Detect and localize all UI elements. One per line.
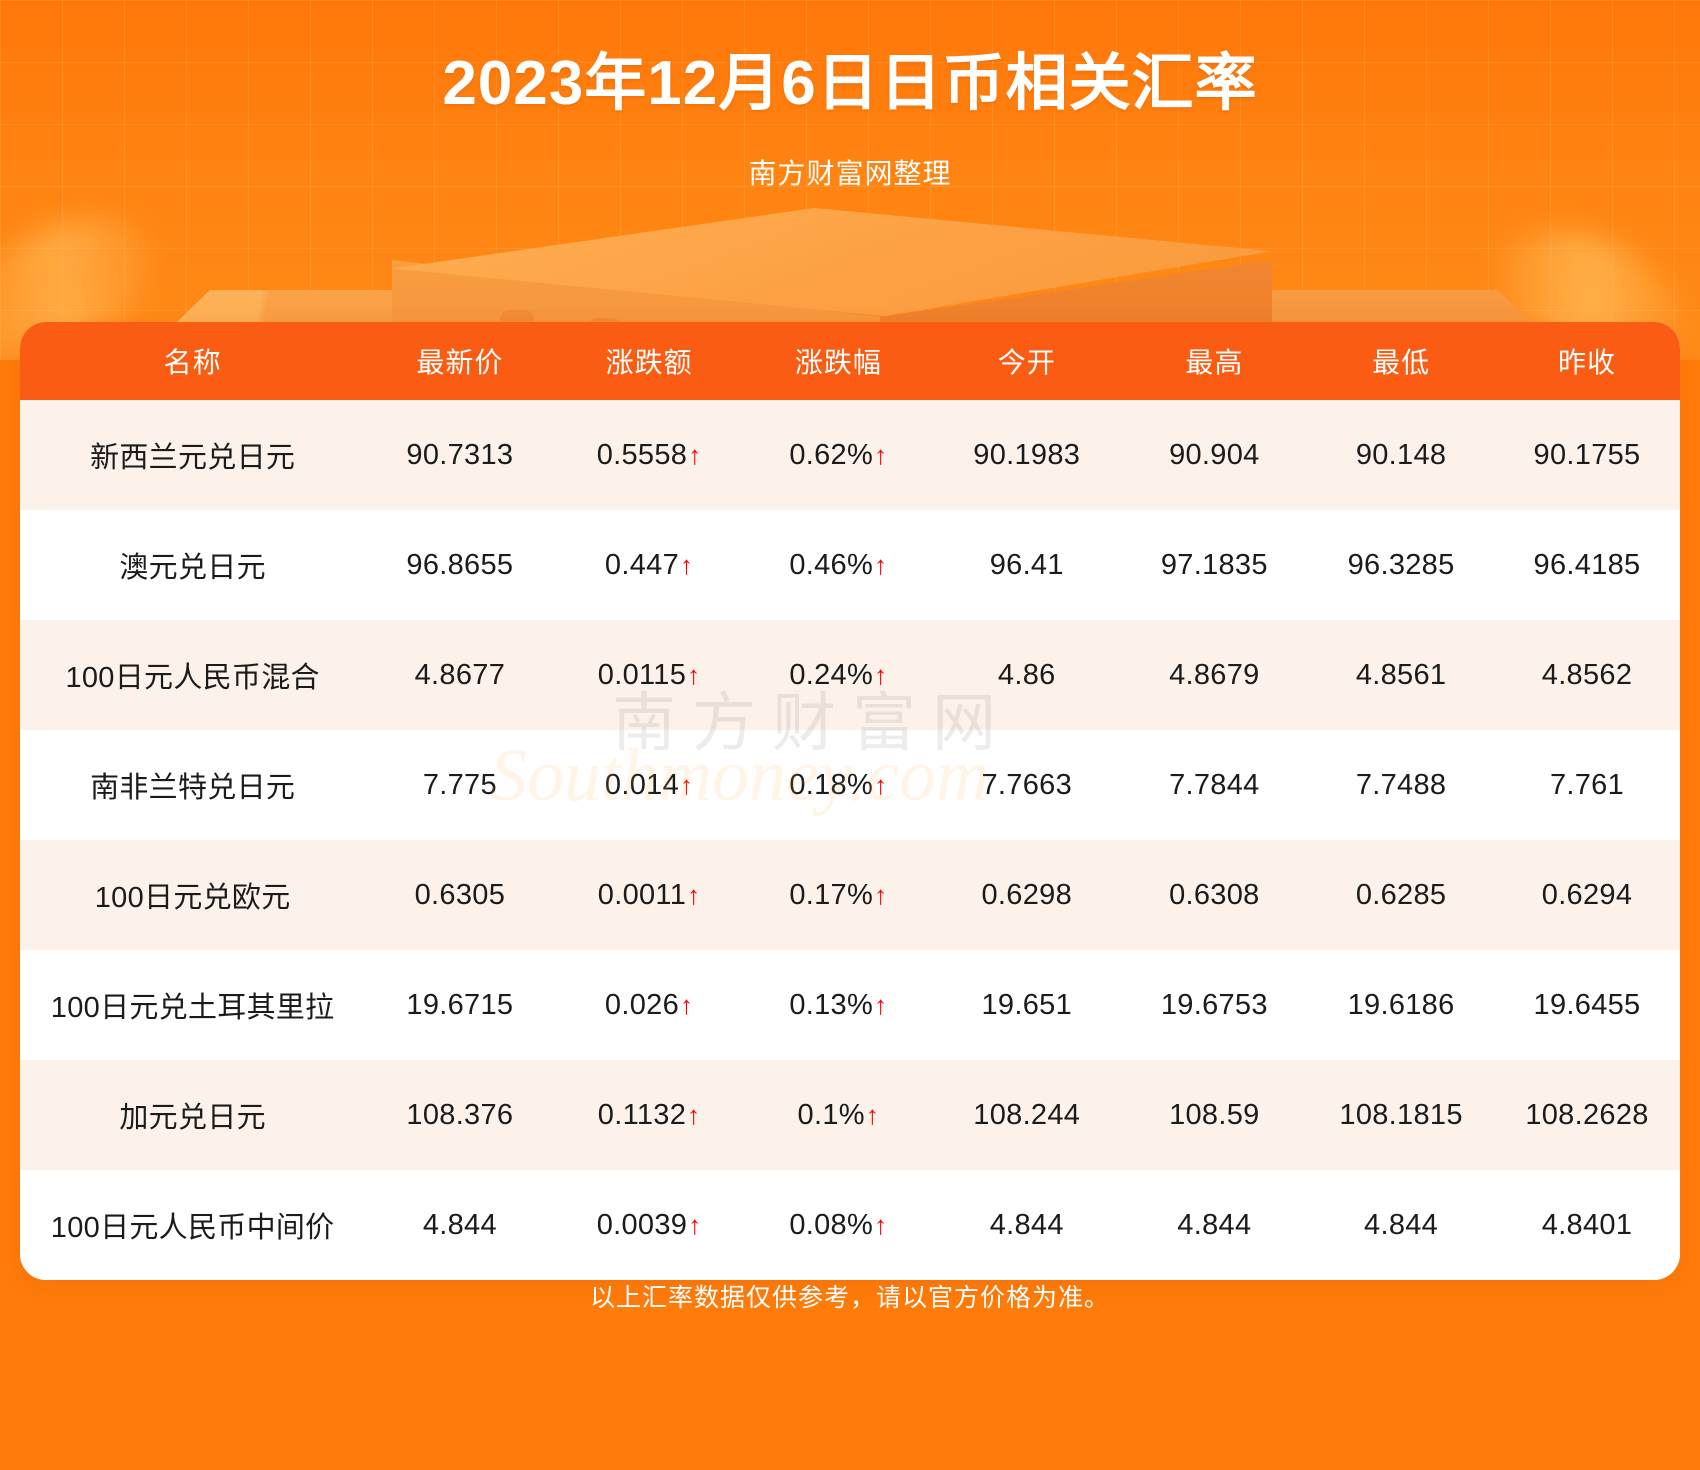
- arrow-up-icon: ↑: [873, 440, 887, 470]
- rates-card: 名称 最新价 涨跌额 涨跌幅 今开 最高 最低 昨收 新西兰元兑日元 90.73…: [20, 322, 1680, 1280]
- change-value: 0.0039: [597, 1209, 688, 1241]
- cell-last-price: 0.6305: [365, 840, 554, 950]
- cell-change-pct: 0.18%↑: [744, 730, 933, 840]
- cell-last-price: 19.6715: [365, 950, 554, 1060]
- change-value: 0.0115: [598, 659, 686, 691]
- cell-open: 4.86: [933, 620, 1121, 730]
- cell-open: 7.7663: [933, 730, 1121, 840]
- pct-value: 0.13%: [789, 989, 873, 1021]
- cell-last-price: 7.775: [365, 730, 554, 840]
- cell-change-pct: 0.24%↑: [744, 620, 933, 730]
- cell-change-pct: 0.62%↑: [744, 400, 933, 510]
- column-header-name[interactable]: 名称: [20, 322, 365, 400]
- arrow-up-icon: ↑: [873, 880, 887, 910]
- cell-prev-close: 96.4185: [1494, 510, 1680, 620]
- cell-high: 97.1835: [1121, 510, 1309, 620]
- cell-open: 0.6298: [933, 840, 1121, 950]
- cell-change: 0.447↑: [555, 510, 744, 620]
- table-row[interactable]: 100日元兑土耳其里拉 19.6715 0.026↑ 0.13%↑ 19.651…: [20, 950, 1680, 1060]
- cell-name: 澳元兑日元: [20, 510, 365, 620]
- cell-name: 南非兰特兑日元: [20, 730, 365, 840]
- cell-high: 4.844: [1121, 1170, 1309, 1280]
- cell-prev-close: 4.8401: [1494, 1170, 1680, 1280]
- cell-last-price: 90.7313: [365, 400, 554, 510]
- cell-name: 加元兑日元: [20, 1060, 365, 1170]
- table-row[interactable]: 100日元兑欧元 0.6305 0.0011↑ 0.17%↑ 0.6298 0.…: [20, 840, 1680, 950]
- change-value: 0.0011: [598, 879, 686, 911]
- arrow-up-icon: ↑: [686, 1100, 700, 1130]
- change-value: 0.1132: [598, 1099, 686, 1131]
- cell-change: 0.1132↑: [555, 1060, 744, 1170]
- arrow-up-icon: ↑: [687, 1210, 701, 1240]
- cell-low: 0.6285: [1308, 840, 1494, 950]
- arrow-up-icon: ↑: [679, 550, 693, 580]
- exchange-rate-page: 2023年12月6日日币相关汇率 南方财富网整理 名称 最新价 涨跌额 涨跌幅 …: [0, 0, 1700, 1470]
- arrow-up-icon: ↑: [687, 440, 701, 470]
- cell-change: 0.0039↑: [555, 1170, 744, 1280]
- cell-low: 19.6186: [1308, 950, 1494, 1060]
- column-header-low[interactable]: 最低: [1308, 322, 1494, 400]
- cell-last-price: 4.8677: [365, 620, 554, 730]
- arrow-up-icon: ↑: [865, 1100, 879, 1130]
- arrow-up-icon: ↑: [686, 660, 700, 690]
- cell-high: 0.6308: [1121, 840, 1309, 950]
- cell-change: 0.0115↑: [555, 620, 744, 730]
- cell-low: 96.3285: [1308, 510, 1494, 620]
- footer-disclaimer: 以上汇率数据仅供参考，请以官方价格为准。: [0, 1278, 1700, 1314]
- cell-open: 4.844: [933, 1170, 1121, 1280]
- column-header-last-price[interactable]: 最新价: [365, 322, 554, 400]
- cell-last-price: 96.8655: [365, 510, 554, 620]
- cell-change-pct: 0.17%↑: [744, 840, 933, 950]
- page-subtitle: 南方财富网整理: [0, 152, 1700, 192]
- table-row[interactable]: 100日元人民币混合 4.8677 0.0115↑ 0.24%↑ 4.86 4.…: [20, 620, 1680, 730]
- cell-last-price: 108.376: [365, 1060, 554, 1170]
- cell-high: 7.7844: [1121, 730, 1309, 840]
- cell-change: 0.014↑: [555, 730, 744, 840]
- cell-prev-close: 7.761: [1494, 730, 1680, 840]
- cell-name: 100日元兑欧元: [20, 840, 365, 950]
- arrow-up-icon: ↑: [679, 990, 693, 1020]
- cell-change: 0.026↑: [555, 950, 744, 1060]
- cell-high: 4.8679: [1121, 620, 1309, 730]
- change-value: 0.447: [605, 549, 679, 581]
- cell-change-pct: 0.13%↑: [744, 950, 933, 1060]
- cell-high: 90.904: [1121, 400, 1309, 510]
- table-header-row: 名称 最新价 涨跌额 涨跌幅 今开 最高 最低 昨收: [20, 322, 1680, 400]
- arrow-up-icon: ↑: [873, 770, 887, 800]
- arrow-up-icon: ↑: [873, 990, 887, 1020]
- pct-value: 0.18%: [789, 769, 873, 801]
- cell-name: 100日元人民币混合: [20, 620, 365, 730]
- pct-value: 0.24%: [789, 659, 873, 691]
- cell-name: 新西兰元兑日元: [20, 400, 365, 510]
- table-row[interactable]: 100日元人民币中间价 4.844 0.0039↑ 0.08%↑ 4.844 4…: [20, 1170, 1680, 1280]
- cell-prev-close: 108.2628: [1494, 1060, 1680, 1170]
- exchange-rates-table: 名称 最新价 涨跌额 涨跌幅 今开 最高 最低 昨收 新西兰元兑日元 90.73…: [20, 322, 1680, 1280]
- cell-open: 19.651: [933, 950, 1121, 1060]
- arrow-up-icon: ↑: [873, 550, 887, 580]
- cell-open: 108.244: [933, 1060, 1121, 1170]
- arrow-up-icon: ↑: [679, 770, 693, 800]
- column-header-change[interactable]: 涨跌额: [555, 322, 744, 400]
- pct-value: 0.46%: [789, 549, 873, 581]
- column-header-prev-close[interactable]: 昨收: [1494, 322, 1680, 400]
- arrow-up-icon: ↑: [873, 1210, 887, 1240]
- cell-open: 96.41: [933, 510, 1121, 620]
- table-header: 名称 最新价 涨跌额 涨跌幅 今开 最高 最低 昨收: [20, 322, 1680, 400]
- cell-low: 4.8561: [1308, 620, 1494, 730]
- cell-name: 100日元兑土耳其里拉: [20, 950, 365, 1060]
- arrow-up-icon: ↑: [873, 660, 887, 690]
- arrow-up-icon: ↑: [686, 880, 700, 910]
- cell-name: 100日元人民币中间价: [20, 1170, 365, 1280]
- cell-change: 0.0011↑: [555, 840, 744, 950]
- change-value: 0.5558: [597, 439, 688, 471]
- cell-change-pct: 0.08%↑: [744, 1170, 933, 1280]
- cell-change: 0.5558↑: [555, 400, 744, 510]
- table-row[interactable]: 加元兑日元 108.376 0.1132↑ 0.1%↑ 108.244 108.…: [20, 1060, 1680, 1170]
- cell-low: 108.1815: [1308, 1060, 1494, 1170]
- column-header-high[interactable]: 最高: [1121, 322, 1309, 400]
- cell-last-price: 4.844: [365, 1170, 554, 1280]
- table-row[interactable]: 新西兰元兑日元 90.7313 0.5558↑ 0.62%↑ 90.1983 9…: [20, 400, 1680, 510]
- table-row[interactable]: 澳元兑日元 96.8655 0.447↑ 0.46%↑ 96.41 97.183…: [20, 510, 1680, 620]
- column-header-open[interactable]: 今开: [933, 322, 1121, 400]
- change-value: 0.026: [605, 989, 679, 1021]
- cell-change-pct: 0.46%↑: [744, 510, 933, 620]
- pct-value: 0.17%: [789, 879, 873, 911]
- column-header-change-pct[interactable]: 涨跌幅: [744, 322, 933, 400]
- cell-change-pct: 0.1%↑: [744, 1060, 933, 1170]
- cell-open: 90.1983: [933, 400, 1121, 510]
- pct-value: 0.1%: [798, 1099, 865, 1131]
- cell-low: 7.7488: [1308, 730, 1494, 840]
- cell-prev-close: 19.6455: [1494, 950, 1680, 1060]
- cell-high: 108.59: [1121, 1060, 1309, 1170]
- cell-low: 4.844: [1308, 1170, 1494, 1280]
- banner: 2023年12月6日日币相关汇率 南方财富网整理: [0, 0, 1700, 360]
- table-row[interactable]: 南非兰特兑日元 7.775 0.014↑ 0.18%↑ 7.7663 7.784…: [20, 730, 1680, 840]
- pct-value: 0.62%: [789, 439, 873, 471]
- pct-value: 0.08%: [789, 1209, 873, 1241]
- table-body: 新西兰元兑日元 90.7313 0.5558↑ 0.62%↑ 90.1983 9…: [20, 400, 1680, 1280]
- page-title: 2023年12月6日日币相关汇率: [0, 48, 1700, 119]
- change-value: 0.014: [605, 769, 679, 801]
- cell-prev-close: 0.6294: [1494, 840, 1680, 950]
- cell-prev-close: 4.8562: [1494, 620, 1680, 730]
- cell-prev-close: 90.1755: [1494, 400, 1680, 510]
- cell-low: 90.148: [1308, 400, 1494, 510]
- cell-high: 19.6753: [1121, 950, 1309, 1060]
